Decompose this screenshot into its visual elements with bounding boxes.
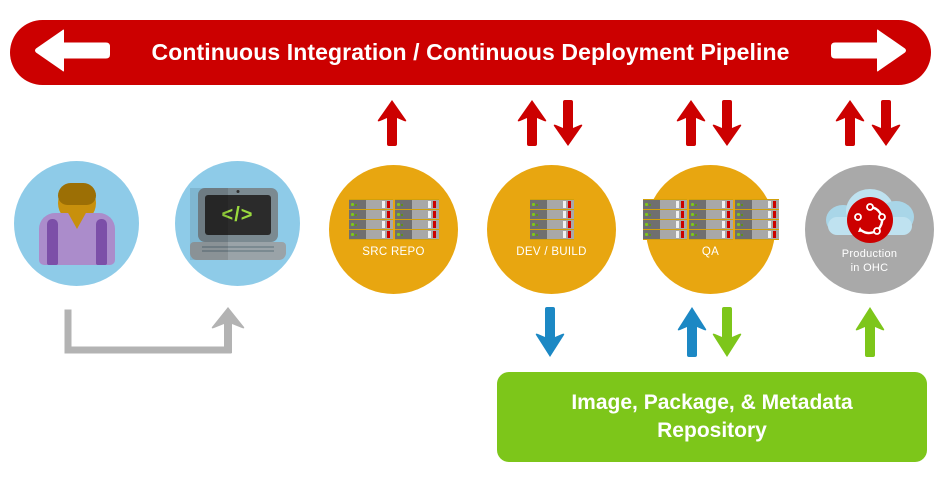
stage-label-dev-build: DEV / BUILD	[516, 245, 586, 259]
stage-developer[interactable]	[14, 161, 139, 286]
stage-dev-build[interactable]: DEV / BUILD	[487, 165, 616, 294]
stage-workstation[interactable]: </>	[175, 161, 300, 286]
orchestration-ring-icon	[847, 197, 893, 243]
cloud-orchestration-icon	[824, 183, 916, 243]
server-rack-icon-src-repo	[349, 199, 439, 240]
arrow-down-icon-qa	[712, 100, 742, 151]
repository-box[interactable]: Image, Package, & Metadata Repository	[497, 372, 927, 462]
stage-label-production: Production in OHC	[842, 248, 898, 276]
person-icon	[39, 183, 115, 265]
developer-to-workstation-connector	[60, 305, 250, 365]
arrow-up-icon-qa-to-repo	[677, 307, 707, 362]
arrow-down-icon-dev-build	[553, 100, 583, 151]
arrow-up-icon-qa	[676, 100, 706, 151]
server-rack-icon-qa	[643, 199, 779, 240]
arrow-up-icon-repo-to-production	[855, 307, 885, 362]
arrow-left-icon	[34, 28, 110, 77]
arrow-down-icon-repo-to-qa	[712, 307, 742, 362]
stage-qa[interactable]: QA	[646, 165, 775, 294]
stage-label-qa: QA	[702, 245, 719, 259]
repository-label: Image, Package, & Metadata Repository	[571, 389, 852, 444]
laptop-code-icon: </>	[190, 188, 286, 260]
server-rack-icon-dev-build	[530, 199, 574, 240]
stage-src-repo[interactable]: SRC REPO	[329, 165, 458, 294]
stage-production[interactable]: Production in OHC	[805, 165, 934, 294]
pipeline-banner: Continuous Integration / Continuous Depl…	[10, 20, 931, 85]
arrow-down-icon-production	[871, 100, 901, 151]
stage-label-src-repo: SRC REPO	[362, 245, 424, 259]
arrow-up-icon-dev-build	[517, 100, 547, 151]
banner-title: Continuous Integration / Continuous Depl…	[152, 41, 790, 64]
arrow-right-icon	[831, 28, 907, 77]
arrow-down-icon-dev-to-repo	[535, 307, 565, 362]
arrow-up-icon-production	[835, 100, 865, 151]
cicd-pipeline-diagram: Continuous Integration / Continuous Depl…	[0, 0, 941, 500]
arrow-up-icon-src-repo	[377, 100, 407, 151]
